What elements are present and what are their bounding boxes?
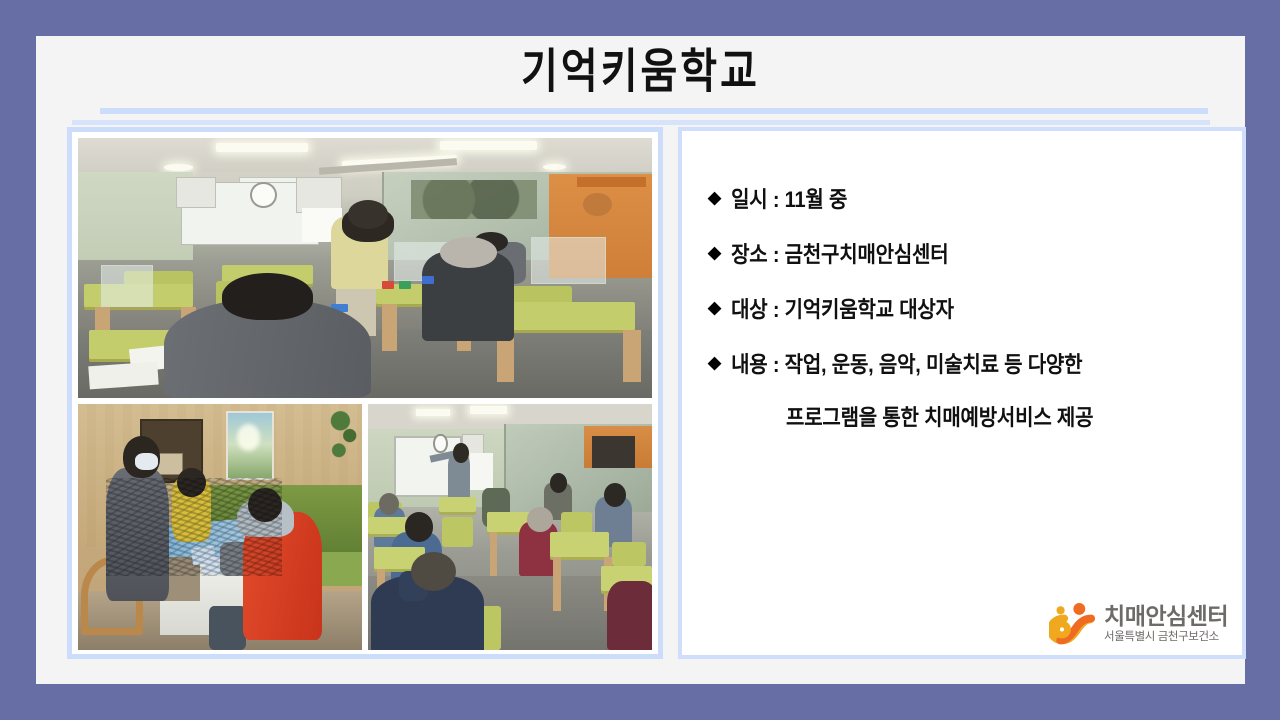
info-item-content-continuation-text: 프로그램을 통한 치매예방서비스 제공: [786, 399, 1093, 431]
photo-panel: [67, 127, 663, 659]
photo-cafe-cognitive-program: [78, 404, 362, 650]
info-item-target-text: 대상 : 기억키움학교 대상자: [731, 297, 954, 325]
info-item-place-text: 장소 : 금천구치매안심센터: [731, 242, 948, 270]
info-item-content-text: 내용 : 작업, 운동, 음악, 미술치료 등 다양한: [731, 352, 1082, 380]
diamond-bullet-icon: ◆: [708, 352, 721, 375]
info-item-content: ◆ 내용 : 작업, 운동, 음악, 미술치료 등 다양한: [708, 352, 1224, 377]
photo-occupational-therapy-classroom: [78, 138, 652, 398]
title-divider-thick: [100, 108, 1208, 114]
info-panel: ◆ 일시 : 11월 중 ◆ 장소 : 금천구치매안심센터 ◆ 대상 : 기억키…: [678, 127, 1246, 659]
dementia-center-logo-icon: [1049, 603, 1095, 645]
slide-card: 기억키움학교: [36, 36, 1245, 684]
info-item-date-text: 일시 : 11월 중: [731, 187, 847, 215]
info-item-place: ◆ 장소 : 금천구치매안심센터: [708, 242, 1224, 267]
diamond-bullet-icon: ◆: [708, 242, 721, 265]
logo-text-block: 치매안심센터 서울특별시 금천구보건소: [1104, 605, 1228, 644]
info-list: ◆ 일시 : 11월 중 ◆ 장소 : 금천구치매안심센터 ◆ 대상 : 기억키…: [708, 187, 1224, 430]
diamond-bullet-icon: ◆: [708, 297, 721, 320]
photo-lecture-classroom: [368, 404, 652, 650]
organization-logo: 치매안심센터 서울특별시 금천구보건소: [1049, 603, 1228, 645]
slide-root: 기억키움학교: [0, 0, 1280, 720]
diamond-bullet-icon: ◆: [708, 187, 721, 210]
info-item-content-continuation: 프로그램을 통한 치매예방서비스 제공: [786, 401, 1224, 430]
title-divider-thin: [72, 120, 1210, 125]
logo-organization-name: 치매안심센터: [1104, 605, 1228, 628]
title-area: 기억키움학교: [36, 36, 1245, 108]
logo-organization-subtitle: 서울특별시 금천구보건소: [1104, 632, 1228, 644]
info-item-date: ◆ 일시 : 11월 중: [708, 187, 1224, 212]
page-title: 기억키움학교: [521, 48, 760, 95]
info-item-target: ◆ 대상 : 기억키움학교 대상자: [708, 297, 1224, 322]
